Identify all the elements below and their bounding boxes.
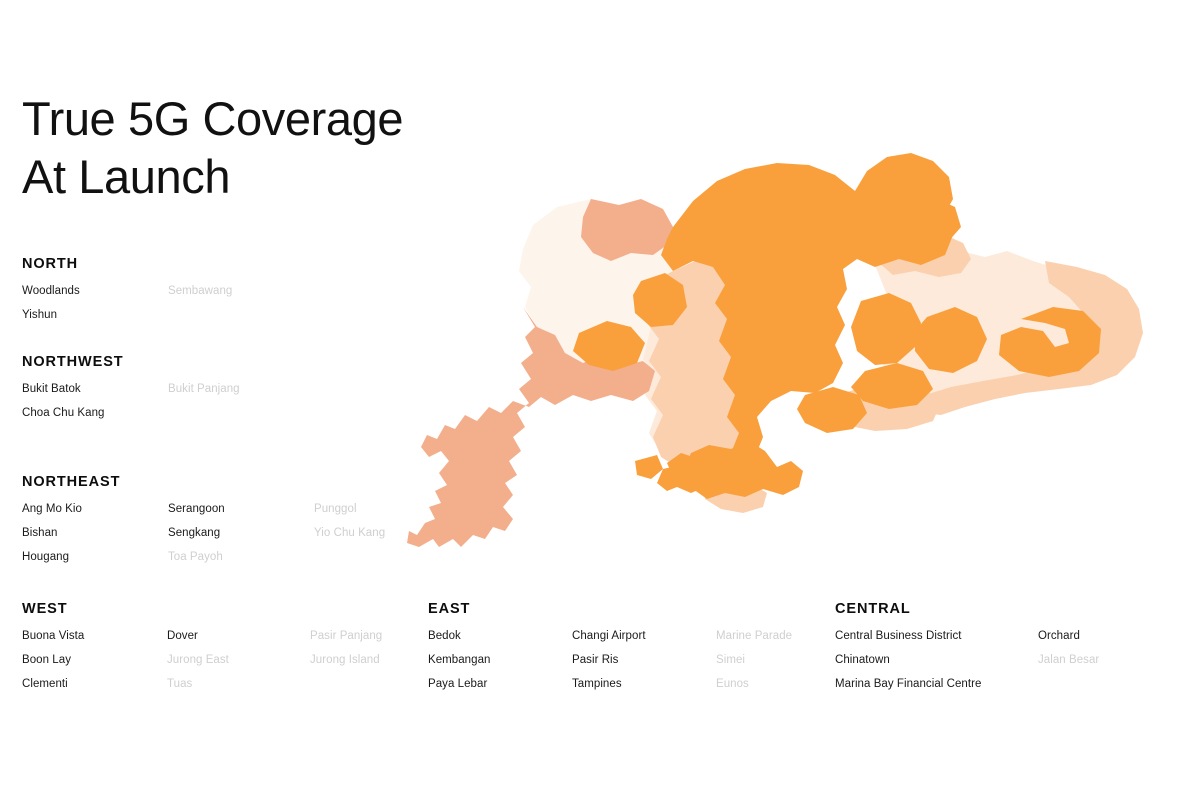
- region-column: Central Business DistrictChinatownMarina…: [835, 631, 1038, 703]
- coverage-area-item: Bishan: [22, 528, 168, 552]
- region-column: Bukit Panjang: [168, 384, 314, 432]
- coverage-area-item: Sengkang: [168, 528, 314, 552]
- map-area-cbd-waterfront: [683, 441, 803, 499]
- region-columns-north: WoodlandsYishunSembawang: [22, 286, 314, 334]
- region-heading-north: NORTH: [22, 256, 314, 272]
- region-heading-northeast: NORTHEAST: [22, 474, 460, 490]
- region-column: SerangoonSengkangToa Payoh: [168, 504, 314, 576]
- coverage-area-item: Jurong East: [167, 655, 310, 679]
- region-columns-northwest: Bukit BatokChoa Chu KangBukit Panjang: [22, 384, 314, 432]
- coverage-area-item: Marina Bay Financial Centre: [835, 679, 1038, 703]
- region-block-central: CENTRALCentral Business DistrictChinatow…: [835, 601, 1099, 703]
- coverage-area-item: Kembangan: [428, 655, 572, 679]
- coverage-area-item: Paya Lebar: [428, 679, 572, 703]
- coverage-area-item: Serangoon: [168, 504, 314, 528]
- region-columns-east: BedokKembanganPaya LebarChangi AirportPa…: [428, 631, 792, 703]
- coverage-area-item: Orchard: [1038, 631, 1099, 655]
- region-heading-east: EAST: [428, 601, 792, 617]
- region-block-north: NORTHWoodlandsYishunSembawang: [22, 256, 314, 334]
- coverage-area-item: Choa Chu Kang: [22, 408, 168, 432]
- coverage-area-item: Bukit Panjang: [168, 384, 314, 408]
- region-columns-northeast: Ang Mo KioBishanHougangSerangoonSengkang…: [22, 504, 460, 576]
- coverage-area-item: Pasir Ris: [572, 655, 716, 679]
- coverage-area-item: Hougang: [22, 552, 168, 576]
- coverage-area-item: Central Business District: [835, 631, 1038, 655]
- singapore-map-svg: [405, 95, 1195, 595]
- coverage-area-item: Buona Vista: [22, 631, 167, 655]
- coverage-area-item: Jurong Island: [310, 655, 382, 679]
- coverage-area-item: Marine Parade: [716, 631, 792, 655]
- coverage-area-item: Simei: [716, 655, 792, 679]
- region-columns-west: Buona VistaBoon LayClementiDoverJurong E…: [22, 631, 382, 703]
- coverage-area-item: Yishun: [22, 310, 168, 334]
- region-column: Bukit BatokChoa Chu Kang: [22, 384, 168, 432]
- region-block-northwest: NORTHWESTBukit BatokChoa Chu KangBukit P…: [22, 354, 314, 432]
- region-column: DoverJurong EastTuas: [167, 631, 310, 703]
- coverage-area-item: Woodlands: [22, 286, 168, 310]
- region-block-east: EASTBedokKembanganPaya LebarChangi Airpo…: [428, 601, 792, 703]
- region-heading-central: CENTRAL: [835, 601, 1099, 617]
- coverage-area-item: Tuas: [167, 679, 310, 703]
- region-column: Sembawang: [168, 286, 314, 334]
- coverage-area-item: Tampines: [572, 679, 716, 703]
- map-area-keppel-notch: [635, 455, 663, 479]
- region-column: Changi AirportPasir RisTampines: [572, 631, 716, 703]
- coverage-area-item: Ang Mo Kio: [22, 504, 168, 528]
- region-block-west: WESTBuona VistaBoon LayClementiDoverJuro…: [22, 601, 382, 703]
- region-columns-central: Central Business DistrictChinatownMarina…: [835, 631, 1099, 703]
- coverage-area-item: Bukit Batok: [22, 384, 168, 408]
- coverage-area-item: Boon Lay: [22, 655, 167, 679]
- region-heading-west: WEST: [22, 601, 382, 617]
- coverage-area-item: Bedok: [428, 631, 572, 655]
- region-column: WoodlandsYishun: [22, 286, 168, 334]
- region-column: Buona VistaBoon LayClementi: [22, 631, 167, 703]
- coverage-map: [405, 95, 1195, 595]
- coverage-area-item: Eunos: [716, 679, 792, 703]
- region-column: Ang Mo KioBishanHougang: [22, 504, 168, 576]
- coverage-area-item: Sembawang: [168, 286, 314, 310]
- region-heading-northwest: NORTHWEST: [22, 354, 314, 370]
- coverage-area-item: Jalan Besar: [1038, 655, 1099, 679]
- coverage-area-item: Chinatown: [835, 655, 1038, 679]
- region-block-northeast: NORTHEASTAng Mo KioBishanHougangSerangoo…: [22, 474, 460, 576]
- region-column: OrchardJalan Besar: [1038, 631, 1099, 703]
- coverage-area-item: Toa Payoh: [168, 552, 314, 576]
- region-column: Pasir PanjangJurong Island: [310, 631, 382, 703]
- coverage-area-item: Dover: [167, 631, 310, 655]
- coverage-area-item: Pasir Panjang: [310, 631, 382, 655]
- region-column: Marine ParadeSimeiEunos: [716, 631, 792, 703]
- region-column: BedokKembanganPaya Lebar: [428, 631, 572, 703]
- coverage-area-item: Clementi: [22, 679, 167, 703]
- coverage-area-item: Changi Airport: [572, 631, 716, 655]
